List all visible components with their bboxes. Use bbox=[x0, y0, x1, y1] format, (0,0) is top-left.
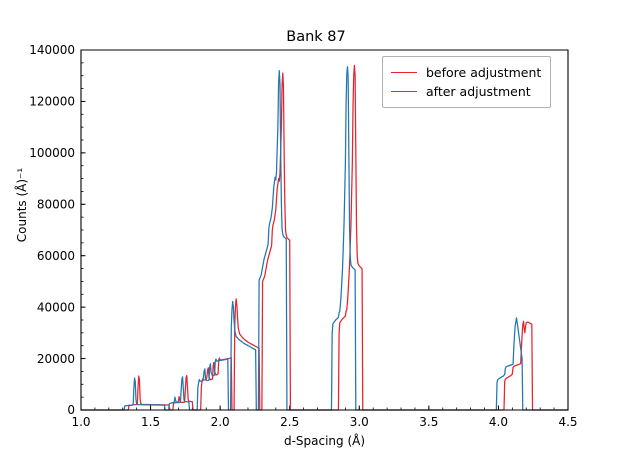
svg-text:40000: 40000 bbox=[37, 300, 75, 314]
svg-text:3.0: 3.0 bbox=[350, 415, 369, 429]
svg-text:4.0: 4.0 bbox=[489, 415, 508, 429]
svg-text:2.5: 2.5 bbox=[280, 415, 299, 429]
legend-label-after: after adjustment bbox=[426, 84, 531, 99]
svg-text:0: 0 bbox=[67, 403, 75, 417]
svg-text:3.5: 3.5 bbox=[419, 415, 438, 429]
legend-item-before: before adjustment bbox=[391, 63, 541, 82]
legend-swatch-before bbox=[391, 72, 417, 73]
svg-text:60000: 60000 bbox=[37, 249, 75, 263]
svg-text:1.5: 1.5 bbox=[141, 415, 160, 429]
svg-text:100000: 100000 bbox=[29, 146, 75, 160]
svg-text:4.5: 4.5 bbox=[558, 415, 577, 429]
svg-text:80000: 80000 bbox=[37, 197, 75, 211]
legend-swatch-after bbox=[391, 91, 417, 92]
series-line-before-adjustment bbox=[81, 65, 568, 410]
series-line-after-adjustment bbox=[81, 67, 568, 410]
data-series-group bbox=[81, 65, 568, 410]
svg-text:20000: 20000 bbox=[37, 352, 75, 366]
svg-text:140000: 140000 bbox=[29, 43, 75, 57]
chart-figure: Bank 87 Counts (Å)⁻¹ d-Spacing (Å) 1.01.… bbox=[0, 0, 632, 460]
chart-legend: before adjustment after adjustment bbox=[382, 56, 551, 108]
svg-text:120000: 120000 bbox=[29, 95, 75, 109]
svg-text:2.0: 2.0 bbox=[211, 415, 230, 429]
legend-label-before: before adjustment bbox=[426, 65, 541, 80]
legend-item-after: after adjustment bbox=[391, 82, 541, 101]
